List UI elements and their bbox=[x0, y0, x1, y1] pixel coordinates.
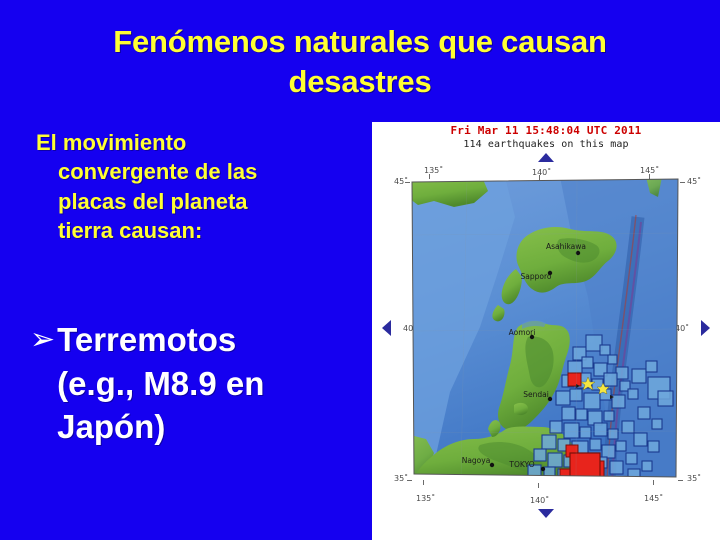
axis-bottom-lon-135: 135˚ bbox=[416, 494, 435, 503]
axis-right-lat-35: 35˚ bbox=[687, 474, 701, 483]
axis-top-lon-140: 140˚ bbox=[532, 168, 551, 177]
pan-north-arrow-icon[interactable] bbox=[538, 153, 554, 162]
paragraph-line-4: tierra causan: bbox=[36, 216, 360, 245]
axis-bottom-lon-140: 140˚ bbox=[530, 496, 549, 505]
axis-right-lat-45: 45˚ bbox=[687, 177, 701, 186]
paragraph-line-3: placas del planeta bbox=[36, 187, 360, 216]
bullet-line-3: Japón) bbox=[57, 405, 264, 449]
map-image[interactable]: Asahikawa Sapporo Aomori Sendai TOKYO Na… bbox=[410, 177, 680, 482]
bullet-line-2: (e.g., M8.9 en bbox=[57, 362, 264, 406]
pan-west-arrow-icon[interactable] bbox=[382, 320, 391, 336]
bullet-block: ➢ Terremotos (e.g., M8.9 en Japón) bbox=[30, 318, 370, 449]
map-earthquake-count-label: 114 earthquakes on this map bbox=[372, 139, 720, 151]
tick-right-45 bbox=[680, 182, 685, 183]
paragraph-line-1: El movimiento bbox=[36, 128, 360, 157]
earthquake-map-panel: Fri Mar 11 15:48:04 UTC 2011 114 earthqu… bbox=[372, 122, 720, 540]
bullet-text: Terremotos (e.g., M8.9 en Japón) bbox=[57, 318, 264, 449]
map-header: Fri Mar 11 15:48:04 UTC 2011 114 earthqu… bbox=[372, 125, 720, 151]
city-label-aomori: Aomori bbox=[509, 328, 536, 337]
body-paragraph: El movimiento convergente de las placas … bbox=[30, 128, 360, 245]
slide-canvas: Fenómenos naturales que causan desastres… bbox=[0, 0, 720, 540]
city-label-nagoya: Nagoya bbox=[462, 456, 491, 465]
city-label-sapporo: Sapporo bbox=[521, 272, 552, 281]
map-svg: Asahikawa Sapporo Aomori Sendai TOKYO Na… bbox=[410, 177, 680, 482]
arrow-bullet-icon: ➢ bbox=[30, 325, 55, 355]
axis-bottom-lon-145: 145˚ bbox=[644, 494, 663, 503]
map-datetime-label: Fri Mar 11 15:48:04 UTC 2011 bbox=[372, 125, 720, 138]
axis-top-lon-135: 135˚ bbox=[424, 166, 443, 175]
city-label-tokyo: TOKYO bbox=[508, 460, 534, 469]
pan-south-arrow-icon[interactable] bbox=[538, 509, 554, 518]
pan-east-arrow-icon[interactable] bbox=[701, 320, 710, 336]
axis-left-lat-35: 35˚ bbox=[394, 474, 408, 483]
body-paragraph-block: El movimiento convergente de las placas … bbox=[30, 128, 360, 245]
slide-title: Fenómenos naturales que causan desastres bbox=[40, 22, 680, 101]
bullet-line-1: Terremotos bbox=[57, 318, 264, 362]
city-label-asahikawa: Asahikawa bbox=[546, 242, 586, 251]
paragraph-line-2: convergente de las bbox=[36, 157, 360, 186]
city-label-sendai: Sendai bbox=[523, 390, 549, 399]
tick-bottom-140 bbox=[538, 483, 539, 488]
